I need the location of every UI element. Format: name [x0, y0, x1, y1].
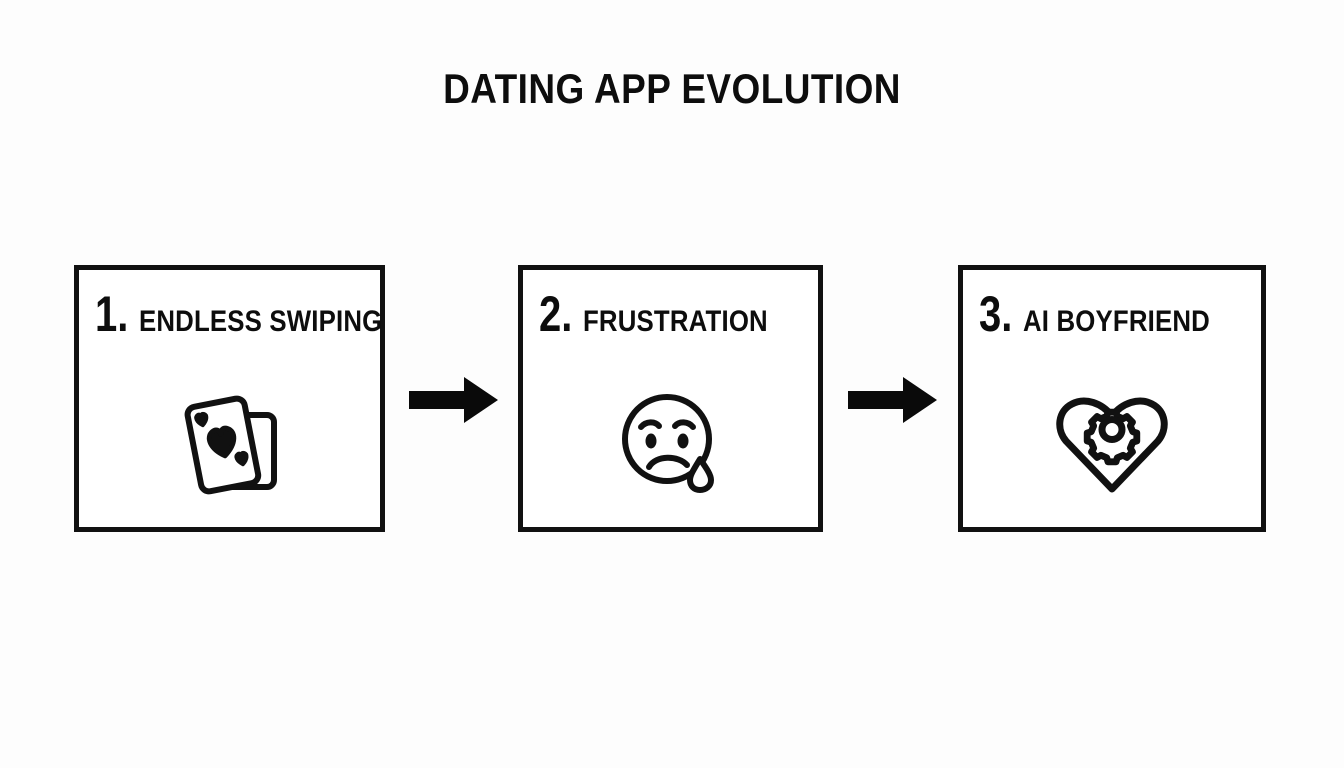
- steps-row: 1. ENDLESS SWIPING: [0, 265, 1344, 533]
- arrow-step2-to-step3: [848, 376, 938, 424]
- playing-cards-hearts-icon: [165, 378, 295, 508]
- step-card-1[interactable]: 1. ENDLESS SWIPING: [74, 265, 385, 532]
- step-1-label: ENDLESS SWIPING: [139, 307, 382, 337]
- step-1-number: 1.: [95, 289, 128, 339]
- step-1-heading: 1. ENDLESS SWIPING: [79, 289, 380, 339]
- step-2-heading: 2. FRUSTRATION: [523, 289, 818, 339]
- step-3-number: 3.: [979, 289, 1012, 339]
- step-3-label: AI BOYFRIEND: [1023, 307, 1210, 337]
- step-card-2[interactable]: 2. FRUSTRATION: [518, 265, 823, 532]
- step-card-3[interactable]: 3. AI BOYFRIEND: [958, 265, 1266, 532]
- infographic-canvas: DATING APP EVOLUTION 1. ENDLESS SWIPING: [0, 0, 1344, 768]
- sad-crying-face-icon: [606, 378, 736, 508]
- step-2-number: 2.: [539, 289, 572, 339]
- step-2-label: FRUSTRATION: [583, 307, 768, 337]
- step-3-heading: 3. AI BOYFRIEND: [963, 289, 1261, 339]
- page-title: DATING APP EVOLUTION: [81, 68, 1264, 110]
- arrow-step1-to-step2: [409, 376, 499, 424]
- heart-with-gear-icon: [1047, 378, 1177, 508]
